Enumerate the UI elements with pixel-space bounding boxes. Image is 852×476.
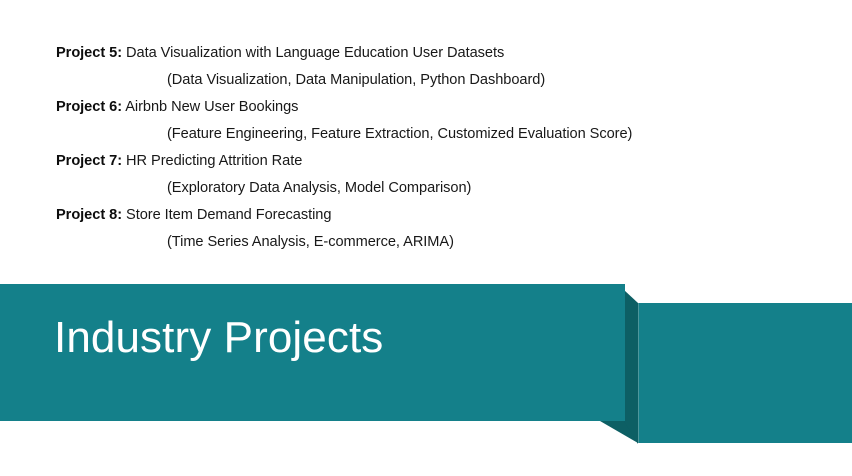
project-label: Project 8: <box>56 207 122 223</box>
project-tags: (Time Series Analysis, E-commerce, ARIMA… <box>0 229 852 256</box>
project-name: Store Item Demand Forecasting <box>126 207 331 223</box>
project-label: Project 5: <box>56 45 122 61</box>
page-title: Industry Projects <box>54 312 383 364</box>
project-name: HR Predicting Attrition Rate <box>126 153 302 169</box>
project-label: Project 6: <box>56 99 122 115</box>
list-item: Project 5: Data Visualization with Langu… <box>0 40 852 94</box>
project-label: Project 7: <box>56 153 122 169</box>
project-title-line: Project 8: Store Item Demand Forecasting <box>0 202 852 229</box>
project-tags: (Feature Engineering, Feature Extraction… <box>0 121 852 148</box>
slide-canvas: Project 5: Data Visualization with Langu… <box>0 0 852 476</box>
project-title-line: Project 5: Data Visualization with Langu… <box>0 40 852 67</box>
banner-fold-edge <box>624 284 638 444</box>
list-item: Project 8: Store Item Demand Forecasting… <box>0 202 852 256</box>
project-list: Project 5: Data Visualization with Langu… <box>0 40 852 256</box>
project-tags: (Exploratory Data Analysis, Model Compar… <box>0 175 852 202</box>
banner-rear-panel <box>637 303 852 443</box>
project-title-line: Project 7: HR Predicting Attrition Rate <box>0 148 852 175</box>
project-name: Airbnb New User Bookings <box>125 99 298 115</box>
list-item: Project 6: Airbnb New User Bookings (Fea… <box>0 94 852 148</box>
section-banner: Industry Projects <box>0 284 852 444</box>
list-item: Project 7: HR Predicting Attrition Rate … <box>0 148 852 202</box>
project-tags: (Data Visualization, Data Manipulation, … <box>0 67 852 94</box>
project-title-line: Project 6: Airbnb New User Bookings <box>0 94 852 121</box>
project-name: Data Visualization with Language Educati… <box>126 45 504 61</box>
